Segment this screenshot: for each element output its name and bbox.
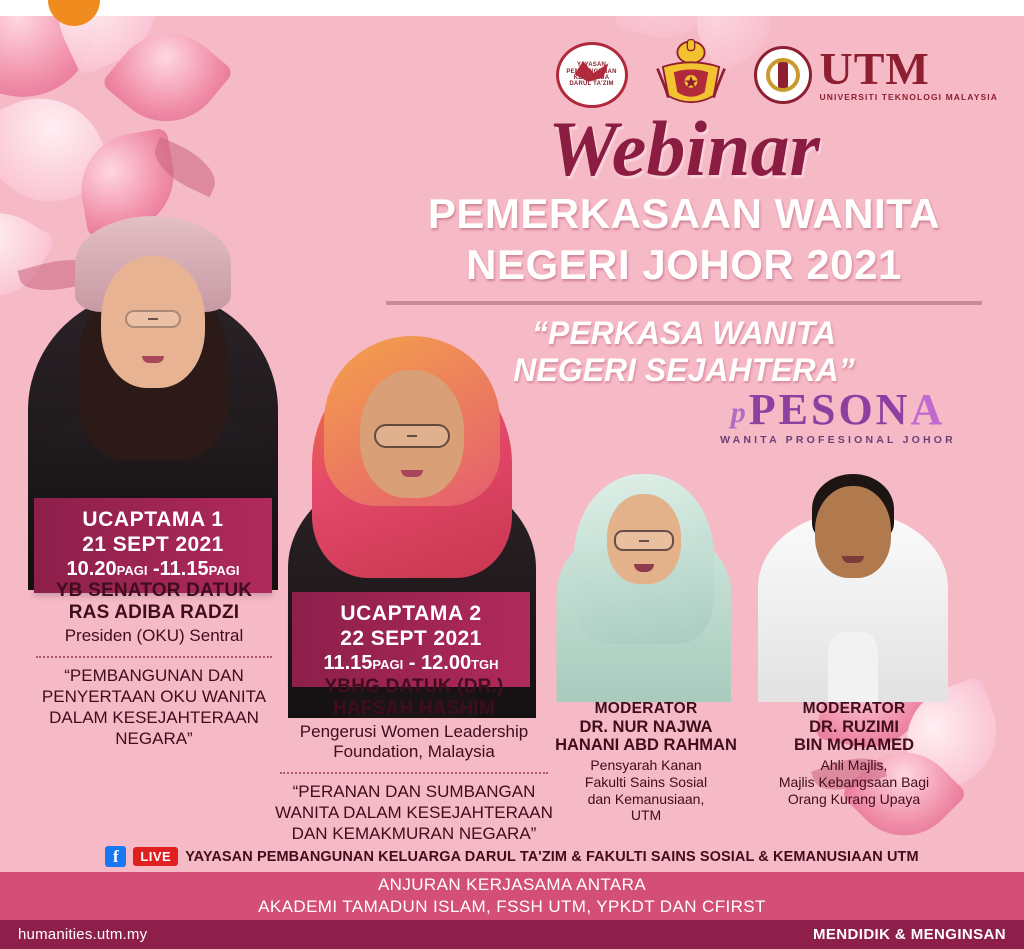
live-badge: LIVE — [133, 847, 178, 866]
johor-state-crest — [650, 36, 732, 114]
organiser-line2: AKADEMI TAMADUN ISLAM, FSSH UTM, YPKDT D… — [258, 897, 766, 917]
speaker-1-topic-line4: NEGARA” — [14, 729, 294, 750]
moderator-2-photo — [758, 452, 948, 702]
speaker-2-role-line1: Pengerusi Women Leadership — [258, 722, 570, 742]
moderator-1-details: MODERATOR DR. NUR NAJWA HANANI ABD RAHMA… — [548, 700, 744, 824]
footer-tagline: MENDIDIK & MENGINSAN — [813, 926, 1006, 943]
page-title-line2: NEGERI JOHOR 2021 — [374, 243, 994, 288]
footer-bar: humanities.utm.my MENDIDIK & MENGINSAN — [0, 920, 1024, 949]
moderator-2-label: MODERATOR — [752, 700, 956, 718]
session-2-badge: UCAPTAMA 2 22 SEPT 2021 11.15PAGI - 12.0… — [292, 592, 530, 687]
utm-subtitle: UNIVERSITI TEKNOLOGI MALAYSIA — [820, 92, 998, 102]
pesona-subtitle: WANITA PROFESIONAL JOHOR — [708, 434, 968, 446]
utm-crest-icon — [754, 46, 812, 104]
moderator-2-name-line2: BIN MOHAMED — [752, 736, 956, 754]
organiser-band: ANJURAN KERJASAMA ANTARA AKADEMI TAMADUN… — [0, 872, 1024, 920]
organiser-line1: ANJURAN KERJASAMA ANTARA — [378, 875, 646, 895]
speaker-2-divider — [280, 772, 548, 774]
orange-circle-decoration — [48, 0, 100, 26]
speaker-2-name-line2: HAFSAH HASHIM — [258, 698, 570, 720]
session-2-title: UCAPTAMA 2 — [310, 602, 512, 626]
speaker-1-topic-line2: PENYERTAAN OKU WANITA — [14, 687, 294, 708]
moderator-1-photo — [556, 452, 731, 702]
moderator-2-role-line3: Orang Kurang Upaya — [752, 791, 956, 808]
speaker-1-details: YB SENATOR DATUK RAS ADIBA RADZI Preside… — [14, 580, 294, 749]
moderator-2-details: MODERATOR DR. RUZIMI BIN MOHAMED Ahli Ma… — [752, 700, 956, 807]
session-2-time: 11.15PAGI - 12.00TGH — [310, 652, 512, 675]
speaker-2-topic-line2: WANITA DALAM KESEJAHTERAAN — [258, 803, 570, 824]
moderator-1-name-line1: DR. NUR NAJWA — [548, 718, 744, 736]
session-1-badge: UCAPTAMA 1 21 SEPT 2021 10.20PAGI -11.15… — [34, 498, 272, 593]
moderator-1-role-line4: UTM — [548, 807, 744, 824]
session-1-title: UCAPTAMA 1 — [52, 508, 254, 532]
moderator-1-role-line1: Pensyarah Kanan — [548, 757, 744, 774]
utm-logo: UTM UNIVERSITI TEKNOLOGI MALAYSIA — [754, 46, 998, 104]
ypkdt-logo: YAYASAN PEMBANGUNAN KELUARGA DARUL TA'ZI… — [556, 42, 628, 108]
speaker-1-divider — [36, 656, 272, 658]
speaker-1-topic-line1: “PEMBANGUNAN DAN — [14, 666, 294, 687]
johor-crest-icon — [650, 36, 732, 114]
pesona-logo: pPESONA WANITA PROFESIONAL JOHOR — [708, 388, 968, 446]
speaker-1-name-line1: YB SENATOR DATUK — [14, 580, 294, 602]
speaker-1-role: Presiden (OKU) Sentral — [14, 626, 294, 646]
moderator-1-name-line2: HANANI ABD RAHMAN — [548, 736, 744, 754]
broadcast-line: f LIVE YAYASAN PEMBANGUNAN KELUARGA DARU… — [0, 846, 1024, 867]
pesona-wordmark: pPESONA — [708, 388, 968, 432]
logo-row: YAYASAN PEMBANGUNAN KELUARGA DARUL TA'ZI… — [556, 36, 998, 114]
title-divider — [386, 301, 981, 305]
moderator-2-name-line1: DR. RUZIMI — [752, 718, 956, 736]
speaker-1-name-line2: RAS ADIBA RADZI — [14, 602, 294, 624]
top-white-strip — [0, 0, 1024, 16]
facebook-icon: f — [105, 846, 126, 867]
utm-wordmark: UTM — [820, 48, 998, 89]
speaker-2-role-line2: Foundation, Malaysia — [258, 742, 570, 762]
session-2-date: 22 SEPT 2021 — [310, 627, 512, 651]
session-1-time: 10.20PAGI -11.15PAGI — [52, 558, 254, 581]
speaker-2-topic-line1: “PERANAN DAN SUMBANGAN — [258, 782, 570, 803]
moderator-1-role-line3: dan Kemanusiaan, — [548, 791, 744, 808]
webinar-poster: YAYASAN PEMBANGUNAN KELUARGA DARUL TA'ZI… — [0, 0, 1024, 949]
moderator-1-role-line2: Fakulti Sains Sosial — [548, 774, 744, 791]
page-title-line1: PEMERKASAAN WANITA — [374, 192, 994, 237]
speaker-2-name-line1: YBHG DATUK (DR.) — [258, 676, 570, 698]
page-title-webinar: Webinar — [374, 112, 994, 186]
session-1-date: 21 SEPT 2021 — [52, 533, 254, 557]
broadcast-channels: YAYASAN PEMBANGUNAN KELUARGA DARUL TA'ZI… — [185, 849, 918, 865]
moderator-1-label: MODERATOR — [548, 700, 744, 718]
moderator-2-role-line1: Ahli Majlis, — [752, 757, 956, 774]
footer-website: humanities.utm.my — [18, 926, 147, 943]
speaker-1-topic-line3: DALAM KESEJAHTERAAN — [14, 708, 294, 729]
speaker-2-topic-line3: DAN KEMAKMURAN NEGARA” — [258, 824, 570, 845]
moderator-2-role-line2: Majlis Kebangsaan Bagi — [752, 774, 956, 791]
pesona-prefix: p — [731, 396, 749, 429]
speaker-2-details: YBHG DATUK (DR.) HAFSAH HASHIM Pengerusi… — [258, 676, 570, 845]
pesona-word-main: PESON — [749, 385, 911, 434]
pesona-word-last: A — [910, 385, 945, 434]
